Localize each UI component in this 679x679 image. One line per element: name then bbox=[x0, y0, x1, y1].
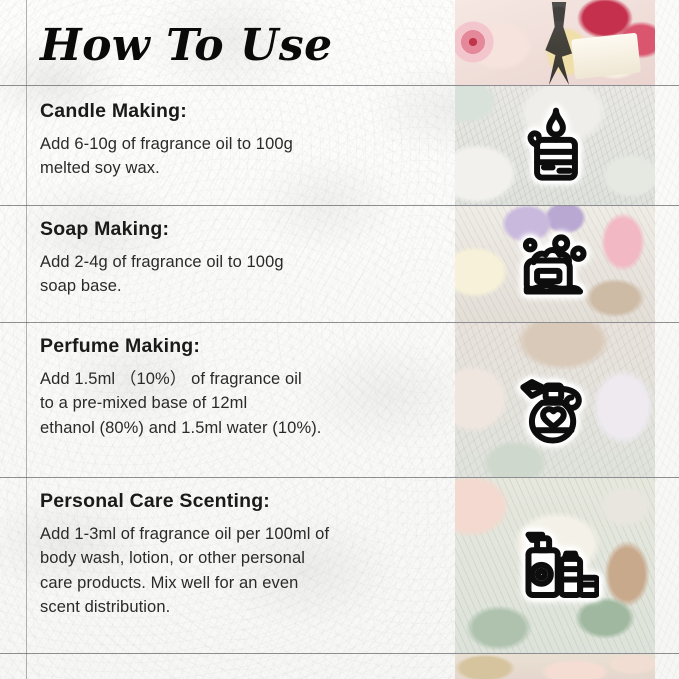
personal-care-products-icon bbox=[510, 518, 602, 610]
section-personal-care-scenting: Personal Care Scenting: Add 1-3ml of fra… bbox=[40, 490, 440, 620]
page-title: How To Use bbox=[40, 10, 440, 80]
divider-under-title bbox=[0, 85, 679, 86]
divider-after-perfume bbox=[0, 477, 679, 478]
body-line: to a pre-mixed base of 12ml bbox=[40, 391, 440, 415]
body-line: soap base. bbox=[40, 274, 440, 298]
section-body-perfume-making: Add 1.5ml （10%） of fragrance oil to a pr… bbox=[40, 367, 440, 440]
section-heading-soap-making: Soap Making: bbox=[40, 218, 440, 241]
body-line: Add 2-4g of fragrance oil to 100g bbox=[40, 250, 440, 274]
candle-icon bbox=[510, 99, 602, 191]
divider-after-personal-care bbox=[0, 653, 679, 654]
body-line: body wash, lotion, or other personal bbox=[40, 546, 440, 570]
section-soap-making: Soap Making: Add 2-4g of fragrance oil t… bbox=[40, 218, 440, 299]
body-line: melted soy wax. bbox=[40, 156, 440, 180]
body-line: Add 1.5ml （10%） of fragrance oil bbox=[40, 367, 440, 391]
divider-after-candle bbox=[0, 205, 679, 206]
body-line: Add 1-3ml of fragrance oil per 100ml of bbox=[40, 522, 440, 546]
section-heading-perfume-making: Perfume Making: bbox=[40, 335, 440, 358]
paper-scroll bbox=[571, 33, 641, 80]
right-edge-fade bbox=[655, 0, 679, 679]
body-line: scent distribution. bbox=[40, 595, 440, 619]
section-heading-candle-making: Candle Making: bbox=[40, 100, 440, 123]
section-heading-personal-care-scenting: Personal Care Scenting: bbox=[40, 490, 440, 513]
section-body-soap-making: Add 2-4g of fragrance oil to 100g soap b… bbox=[40, 250, 440, 299]
bottom-band-image bbox=[455, 654, 655, 679]
body-line: Add 6-10g of fragrance oil to 100g bbox=[40, 132, 440, 156]
body-line: care products. Mix well for an even bbox=[40, 571, 440, 595]
left-vertical-rule bbox=[26, 0, 27, 679]
roses-band-image bbox=[455, 0, 655, 85]
body-line: ethanol (80%) and 1.5ml water (10%). bbox=[40, 416, 440, 440]
section-perfume-making: Perfume Making: Add 1.5ml （10%） of fragr… bbox=[40, 335, 440, 440]
how-to-use-infographic: How To Use Candle Making: Add 6-10g of f… bbox=[0, 0, 679, 679]
divider-after-soap bbox=[0, 322, 679, 323]
soap-bar-icon bbox=[510, 218, 602, 310]
section-candle-making: Candle Making: Add 6-10g of fragrance oi… bbox=[40, 100, 440, 181]
section-body-personal-care-scenting: Add 1-3ml of fragrance oil per 100ml of … bbox=[40, 522, 440, 620]
perfume-bottle-icon bbox=[510, 355, 602, 447]
section-body-candle-making: Add 6-10g of fragrance oil to 100g melte… bbox=[40, 132, 440, 181]
